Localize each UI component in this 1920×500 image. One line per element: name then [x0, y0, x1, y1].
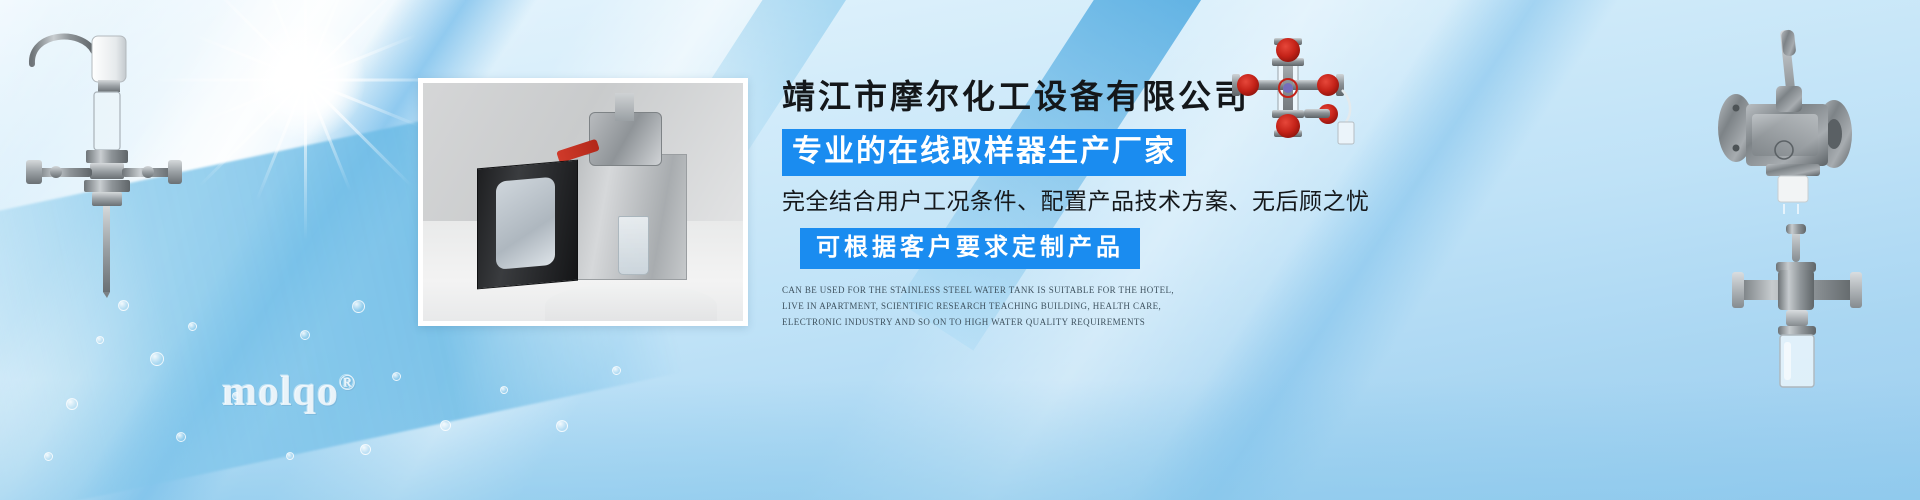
description-line: 完全结合用户工况条件、配置产品技术方案、无后顾之忧 — [782, 187, 1402, 216]
droplet-icon — [118, 300, 129, 311]
droplet-icon — [556, 420, 568, 432]
promo-banner: 靖江市摩尔化工设备有限公司 专业的在线取样器生产厂家 完全结合用户工况条件、配置… — [0, 0, 1920, 500]
droplet-icon — [44, 452, 53, 461]
registered-trademark-icon: ® — [339, 370, 355, 395]
droplet-icon — [176, 432, 186, 442]
photo-sample-bottle — [618, 216, 649, 275]
droplet-icon — [612, 366, 621, 375]
watermark-text: molqo — [222, 369, 339, 415]
droplet-icon — [96, 336, 104, 344]
red-handwheel — [1317, 74, 1339, 96]
english-description: CAN BE USED FOR THE STAINLESS STEEL WATE… — [782, 283, 1182, 330]
bottom-right-equipment-image — [1722, 222, 1872, 397]
top-right-equipment-image — [1216, 30, 1376, 150]
photo-open-door — [477, 159, 578, 289]
red-handwheel — [1237, 74, 1259, 96]
red-handwheel — [1276, 114, 1300, 138]
droplet-icon — [500, 386, 508, 394]
photo-door-window — [496, 177, 556, 270]
droplet-icon — [352, 300, 365, 313]
droplet-icon — [150, 352, 164, 366]
droplet-icon — [300, 330, 310, 340]
droplet-icon — [440, 420, 451, 431]
right-equipment-image — [1700, 22, 1870, 222]
slogan-highlight: 专业的在线取样器生产厂家 — [782, 129, 1186, 176]
droplet-icon — [360, 444, 371, 455]
red-handwheel — [1276, 38, 1300, 62]
center-product-photo — [418, 78, 748, 326]
photo-content — [423, 83, 743, 321]
droplet-icon — [286, 452, 294, 460]
photo-valve-stem — [615, 93, 634, 122]
left-equipment-image — [8, 18, 188, 298]
customization-highlight: 可根据客户要求定制产品 — [800, 228, 1140, 270]
droplet-icon — [392, 372, 401, 381]
brand-watermark: molqo® — [222, 368, 355, 416]
droplet-icon — [188, 322, 197, 331]
droplet-icon — [66, 398, 78, 410]
photo-pedestal — [545, 283, 718, 321]
